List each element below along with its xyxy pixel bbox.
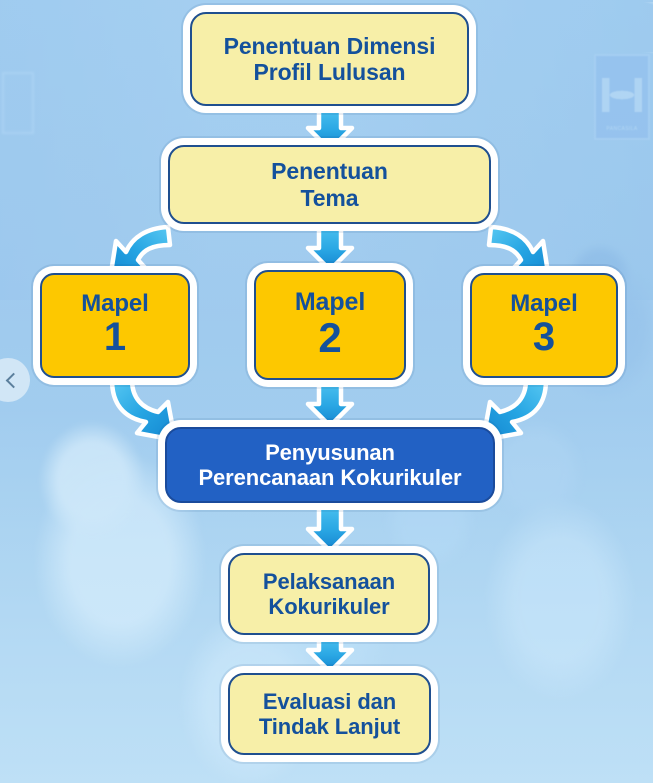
node-pelaksanaan-kokurikuler[interactable]: Pelaksanaan Kokurikuler <box>228 553 430 635</box>
mapel-3-label: Mapel <box>510 290 578 317</box>
chevron-left-icon <box>6 372 22 388</box>
mapel-1-label: Mapel <box>81 290 149 317</box>
background-blue-tint <box>0 0 653 783</box>
mapel-1-number: 1 <box>104 315 126 361</box>
node-penentuan-tema[interactable]: Penentuan Tema <box>168 145 491 224</box>
node-mapel-2[interactable]: Mapel 2 <box>254 270 406 380</box>
mapel-2-number: 2 <box>318 314 341 362</box>
mapel-2-label: Mapel <box>295 288 365 317</box>
slide-canvas: PANCASILA <box>0 0 653 783</box>
mapel-3-number: 3 <box>533 315 555 361</box>
node-evaluasi-dan-tindak-lanjut[interactable]: Evaluasi dan Tindak Lanjut <box>228 673 431 755</box>
node-mapel-3[interactable]: Mapel 3 <box>470 273 618 378</box>
node-penentuan-dimensi-profil-lulusan[interactable]: Penentuan Dimensi Profil Lulusan <box>190 12 469 106</box>
node-penyusunan-perencanaan-kokurikuler[interactable]: Penyusunan Perencanaan Kokurikuler <box>165 427 495 503</box>
node-mapel-1[interactable]: Mapel 1 <box>40 273 190 378</box>
